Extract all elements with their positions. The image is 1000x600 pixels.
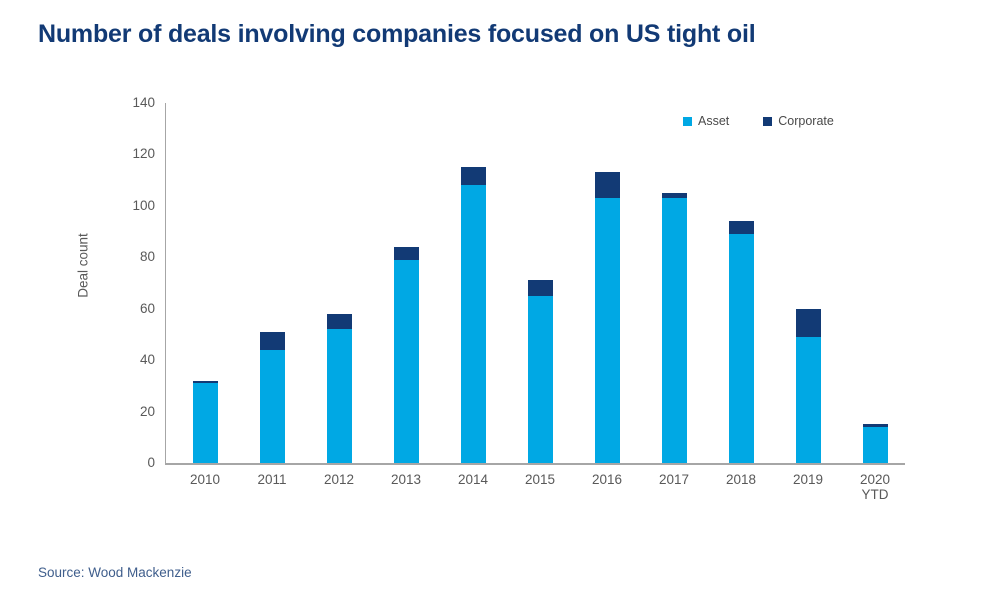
y-tick-label: 120 — [111, 147, 155, 161]
x-tick-label-line1: 2018 — [708, 472, 774, 487]
bar-group[interactable] — [260, 332, 285, 463]
x-tick-label: 2011 — [239, 472, 305, 487]
legend-label: Corporate — [778, 114, 834, 128]
bar-segment-asset[interactable] — [394, 260, 419, 463]
y-tick-label: 20 — [111, 405, 155, 419]
bar-segment-asset[interactable] — [327, 329, 352, 463]
x-axis-line — [165, 463, 905, 465]
x-tick-label-line1: 2017 — [641, 472, 707, 487]
y-axis-line — [165, 103, 166, 464]
x-tick-label: 2013 — [373, 472, 439, 487]
x-tick-label: 2015 — [507, 472, 573, 487]
y-tick-label: 80 — [111, 250, 155, 264]
bar-group[interactable] — [729, 221, 754, 463]
bar-segment-corporate[interactable] — [729, 221, 754, 234]
bar-group[interactable] — [394, 247, 419, 463]
bar-group[interactable] — [662, 193, 687, 463]
x-tick-label-line1: 2015 — [507, 472, 573, 487]
legend-item-corporate[interactable]: Corporate — [763, 114, 834, 128]
bar-group[interactable] — [461, 167, 486, 463]
bar-segment-corporate[interactable] — [595, 172, 620, 198]
bar-group[interactable] — [796, 309, 821, 463]
bar-segment-asset[interactable] — [863, 427, 888, 463]
bar-segment-asset[interactable] — [729, 234, 754, 463]
y-tick-label: 140 — [111, 96, 155, 110]
bar-segment-asset[interactable] — [260, 350, 285, 463]
y-tick-label: 100 — [111, 199, 155, 213]
bar-segment-asset[interactable] — [796, 337, 821, 463]
legend-label: Asset — [698, 114, 729, 128]
bar-segment-asset[interactable] — [461, 185, 486, 463]
x-tick-label-line1: 2010 — [172, 472, 238, 487]
bar-group[interactable] — [863, 424, 888, 463]
legend-swatch-icon — [683, 117, 692, 126]
chart-legend: Asset Corporate — [683, 114, 834, 128]
x-tick-label: 2012 — [306, 472, 372, 487]
bar-group[interactable] — [595, 172, 620, 463]
bar-group[interactable] — [327, 314, 352, 463]
legend-swatch-icon — [763, 117, 772, 126]
bar-segment-asset[interactable] — [193, 383, 218, 463]
bar-group[interactable] — [193, 381, 218, 463]
x-tick-label-line1: 2020 — [842, 472, 908, 487]
x-tick-label-line1: 2014 — [440, 472, 506, 487]
bar-segment-asset[interactable] — [662, 198, 687, 463]
y-tick-label: 40 — [111, 353, 155, 367]
y-axis-title: Deal count — [76, 176, 91, 356]
bar-segment-corporate[interactable] — [528, 280, 553, 295]
bar-group[interactable] — [528, 280, 553, 463]
x-tick-label-line1: 2011 — [239, 472, 305, 487]
x-tick-label: 2014 — [440, 472, 506, 487]
x-tick-label: 2018 — [708, 472, 774, 487]
x-tick-label: 2019 — [775, 472, 841, 487]
x-tick-label: 2020YTD — [842, 472, 908, 502]
x-tick-label-line1: 2019 — [775, 472, 841, 487]
x-tick-label-line1: 2013 — [373, 472, 439, 487]
source-note: Source: Wood Mackenzie — [38, 565, 192, 580]
bar-segment-corporate[interactable] — [796, 309, 821, 337]
x-tick-label-line1: 2016 — [574, 472, 640, 487]
bar-segment-asset[interactable] — [528, 296, 553, 463]
bar-segment-corporate[interactable] — [260, 332, 285, 350]
bar-segment-asset[interactable] — [595, 198, 620, 463]
chart-plot-area: Asset Corporate Deal count 1401201008060… — [0, 0, 1000, 600]
x-tick-label-line1: 2012 — [306, 472, 372, 487]
legend-item-asset[interactable]: Asset — [683, 114, 729, 128]
bar-segment-corporate[interactable] — [461, 167, 486, 185]
bar-segment-corporate[interactable] — [327, 314, 352, 329]
y-tick-label: 0 — [111, 456, 155, 470]
x-tick-label: 2017 — [641, 472, 707, 487]
x-tick-label: 2016 — [574, 472, 640, 487]
y-tick-label: 60 — [111, 302, 155, 316]
bar-segment-corporate[interactable] — [394, 247, 419, 260]
x-tick-label-line2: YTD — [842, 487, 908, 502]
x-tick-label: 2010 — [172, 472, 238, 487]
